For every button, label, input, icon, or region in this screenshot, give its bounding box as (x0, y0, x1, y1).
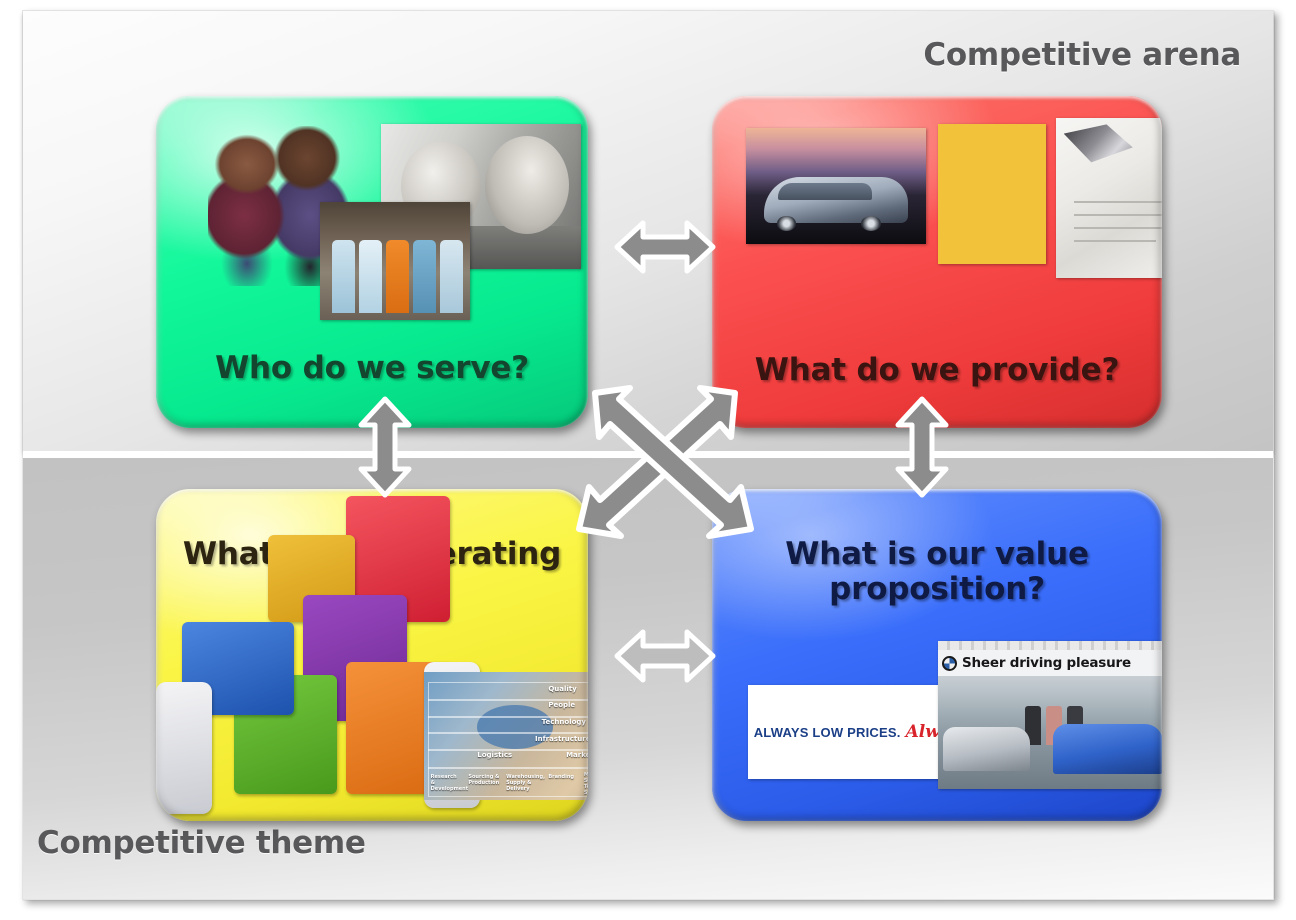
quadrant-caption-who-do-we-serve: Who do we serve? (156, 351, 588, 386)
pills-medication-photo (938, 124, 1046, 264)
arrow-yellow-blue (611, 624, 719, 688)
chart-label-support: Member Service & Technical Support (584, 772, 588, 796)
quadrant-value-proposition[interactable]: What is our value proposition? ALWAYS LO… (712, 489, 1162, 821)
slide-frame: Competitive arena Competitive theme Who … (22, 10, 1274, 900)
chart-label-rd: Research & Development (431, 774, 462, 792)
minivan-car-photo (746, 128, 926, 244)
sheer-driving-pleasure-photo: Sheer driving pleasure (938, 641, 1162, 789)
quadrant-what-do-we-provide[interactable]: What do we provide? (712, 96, 1162, 428)
quadrant-caption-what-do-we-provide: What do we provide? (712, 353, 1162, 388)
slide-canvas: Competitive arena Competitive theme Who … (0, 0, 1296, 920)
quadrant-operating-model[interactable]: What is our operating model? (156, 489, 588, 821)
signing-document-photo (1056, 118, 1162, 278)
bmw-roundel-icon (942, 656, 957, 671)
community-group-photo (320, 202, 470, 320)
chart-label-people: People (548, 701, 575, 709)
always-low-prices-text: ALWAYS LOW PRICES. (754, 725, 901, 740)
competitive-theme-label: Competitive theme (37, 825, 366, 861)
driving-slogan-text: Sheer driving pleasure (962, 655, 1131, 671)
arrow-red-blue (890, 393, 954, 501)
puzzle-pieces-photo (156, 489, 426, 659)
competitive-arena-label: Competitive arena (923, 37, 1241, 73)
arrow-diagonal-pair (575, 379, 755, 539)
chart-label-branding: Branding (548, 774, 577, 780)
chart-label-quality: Quality (548, 685, 576, 693)
chart-label-marketing: Marketing (566, 751, 588, 759)
chart-label-logistics: Logistics (477, 751, 512, 759)
arrow-green-red (611, 215, 719, 279)
chart-label-technology: Technology (542, 718, 586, 726)
chart-label-infrastructure: Infrastructure (535, 735, 588, 743)
operating-model-chart: Quality People Technology Infrastructure… (424, 672, 588, 800)
chart-label-warehousing: Warehousing, Supply & Delivery (506, 774, 539, 792)
arrow-green-yellow (353, 393, 417, 501)
chart-label-sourcing: Sourcing & Production (468, 774, 499, 786)
quadrant-who-do-we-serve[interactable]: Who do we serve? (156, 96, 588, 428)
